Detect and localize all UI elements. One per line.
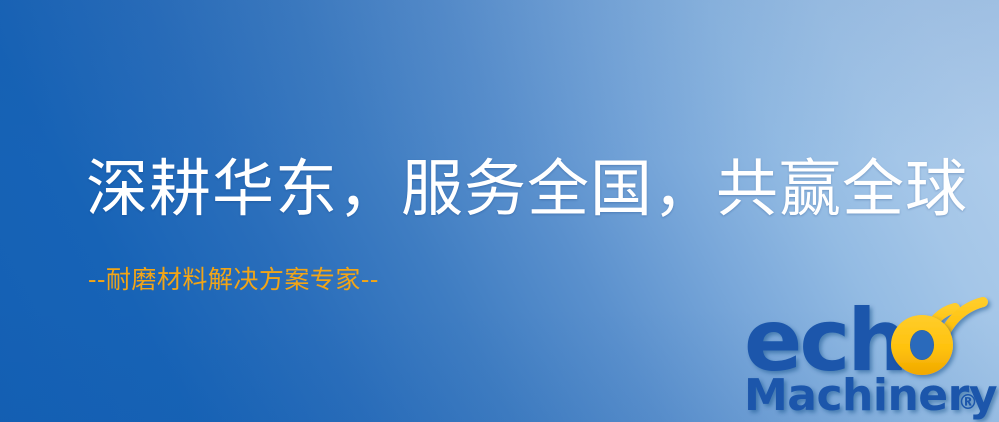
logo-wordmark-o-gold <box>891 315 953 375</box>
page-subtitle: --耐磨材料解决方案专家-- <box>88 266 379 294</box>
registered-trademark-icon: ® <box>958 390 978 414</box>
promo-banner: 深耕华东，服务全国，共赢全球 --耐磨材料解决方案专家-- <box>0 0 999 422</box>
page-title: 深耕华东，服务全国，共赢全球 <box>86 156 968 223</box>
echo-machinery-logo: ech Machinery ® <box>744 292 999 422</box>
